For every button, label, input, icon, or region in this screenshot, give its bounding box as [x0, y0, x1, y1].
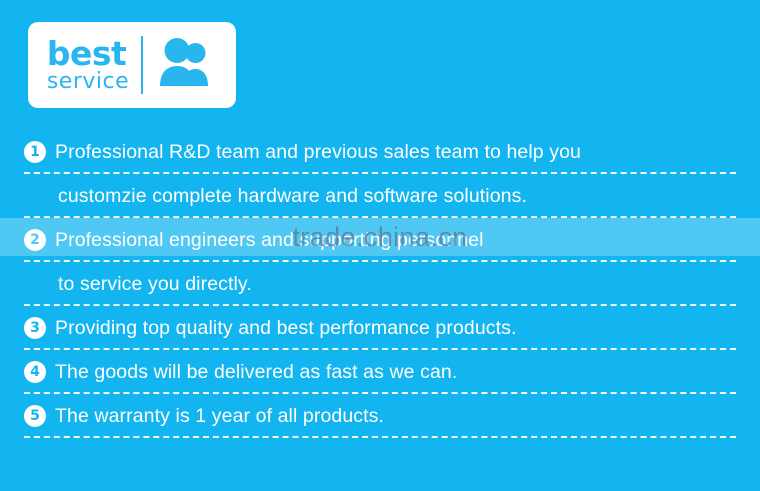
logo-wordmark: best service	[47, 37, 129, 93]
logo-inner: best service	[47, 36, 217, 94]
list-item-label: Professional engineers and supporting pe…	[55, 229, 484, 252]
logo-divider	[141, 36, 143, 94]
best-service-logo-card: best service	[28, 22, 236, 108]
list-item-label: The warranty is 1 year of all products.	[55, 405, 384, 428]
list-item: 5 The warranty is 1 year of all products…	[0, 394, 760, 438]
list-item-continuation: customzie complete hardware and software…	[0, 174, 760, 218]
list-item-label: The goods will be delivered as fast as w…	[55, 361, 457, 384]
list-item: 2 Professional engineers and supporting …	[0, 218, 760, 262]
list-item: 3 Providing top quality and best perform…	[0, 306, 760, 350]
dashed-divider	[24, 436, 736, 438]
service-list: 1 Professional R&D team and previous sal…	[0, 130, 760, 438]
list-item-label: customzie complete hardware and software…	[58, 185, 527, 208]
list-item-label: Professional R&D team and previous sales…	[55, 141, 581, 164]
list-item: 1 Professional R&D team and previous sal…	[0, 130, 760, 174]
item-number-badge: 2	[24, 229, 46, 251]
item-number-badge: 3	[24, 317, 46, 339]
item-number-badge: 5	[24, 405, 46, 427]
item-number-badge: 4	[24, 361, 46, 383]
logo-title-best: best	[47, 37, 126, 70]
logo-title-service: service	[47, 71, 129, 93]
two-people-icon	[159, 38, 217, 93]
list-item-continuation: to service you directly.	[0, 262, 760, 306]
item-number-badge: 1	[24, 141, 46, 163]
list-item-label: Providing top quality and best performan…	[55, 317, 517, 340]
list-item-label: to service you directly.	[58, 273, 252, 296]
list-item: 4 The goods will be delivered as fast as…	[0, 350, 760, 394]
